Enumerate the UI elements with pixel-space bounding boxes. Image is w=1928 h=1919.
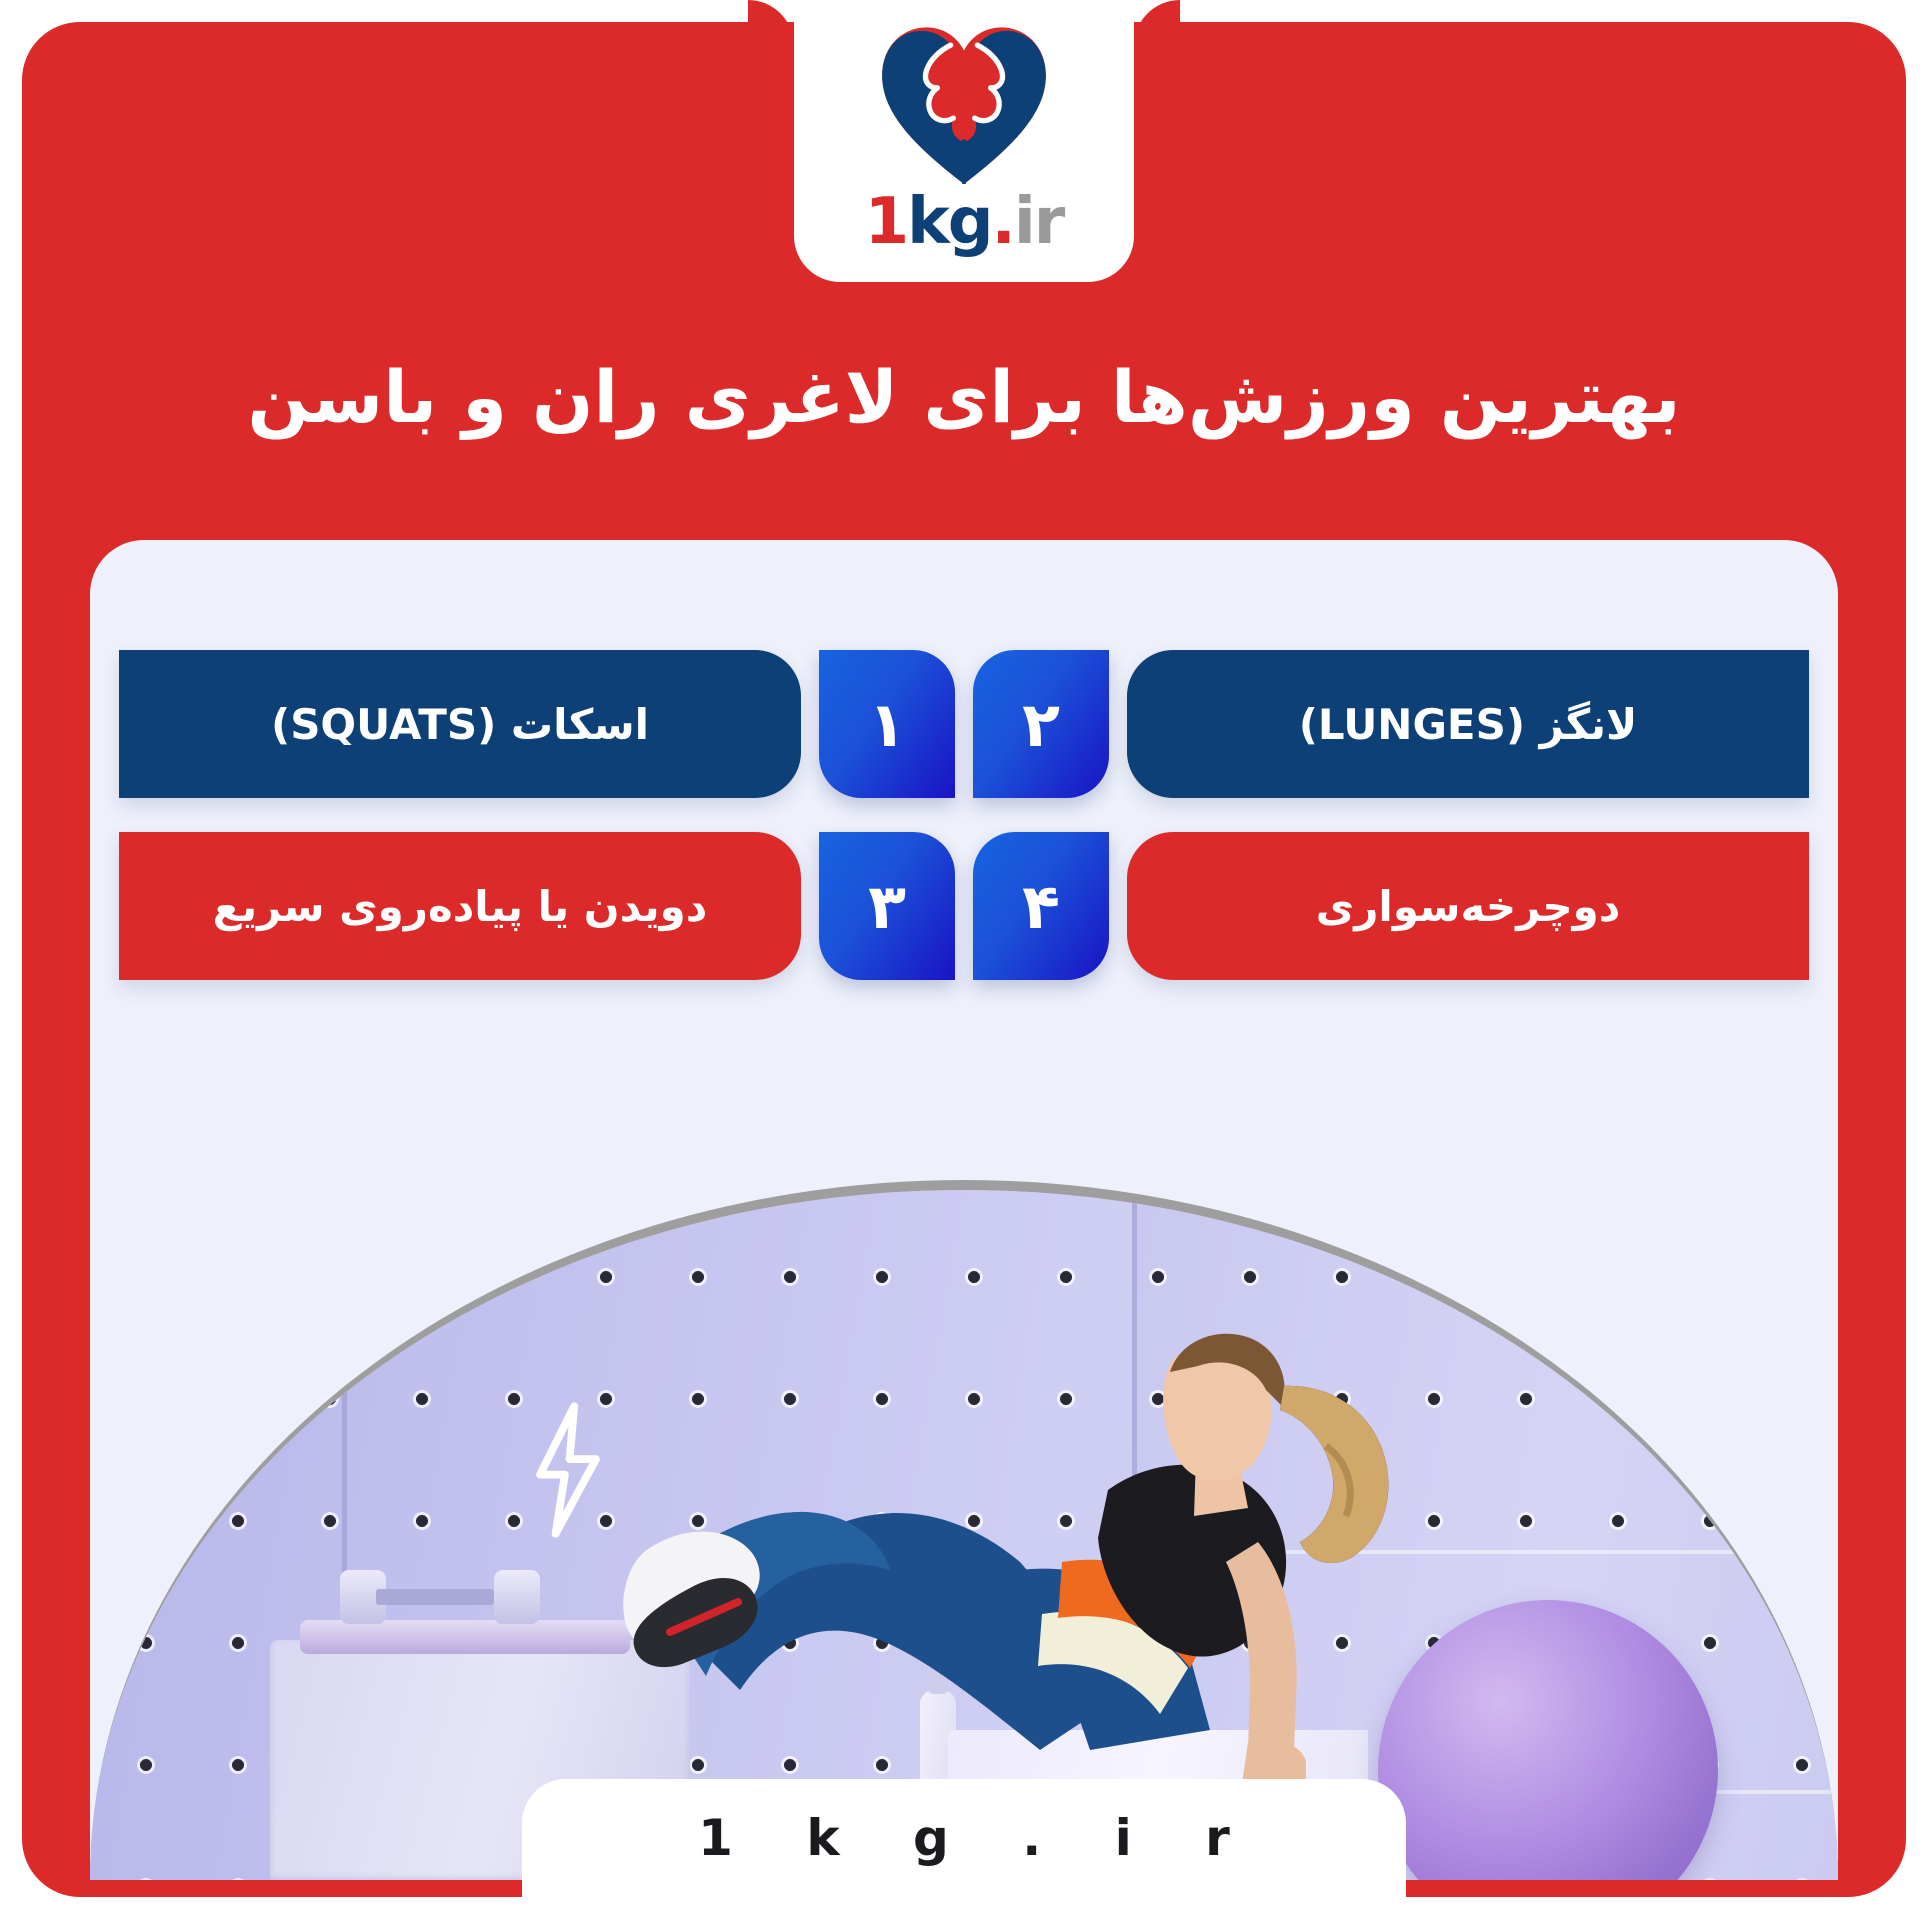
notch-fillet-right — [1134, 0, 1180, 46]
hero-photo — [90, 1180, 1838, 1880]
exercise-row: لانگز (LUNGES) ۲ ۱ اسکات (SQUATS) — [119, 650, 1809, 798]
exercise-label: لانگز (LUNGES) — [1299, 700, 1638, 749]
exercise-item-2[interactable]: لانگز (LUNGES) — [1127, 650, 1809, 798]
exercise-number-4: ۴ — [973, 832, 1109, 980]
exercise-list: لانگز (LUNGES) ۲ ۱ اسکات (SQUATS) دوچرخه… — [90, 650, 1838, 980]
exercise-number-3: ۳ — [819, 832, 955, 980]
badge-number: ۲ — [1022, 688, 1060, 761]
woman-exercising-figure — [90, 1190, 1838, 1880]
wordmark-dot: . — [992, 185, 1014, 259]
exercise-item-4[interactable]: دوچرخه‌سواری — [1127, 832, 1809, 980]
exercise-number-1: ۱ — [819, 650, 955, 798]
badge-number: ۳ — [868, 870, 906, 943]
wordmark-kg: kg — [907, 185, 991, 259]
exercise-label: اسکات (SQUATS) — [271, 700, 649, 749]
exercise-item-3[interactable]: دویدن یا پیاده‌روی سریع — [119, 832, 801, 980]
badge-number: ۴ — [1022, 870, 1060, 943]
infographic-poster: 1kg.ir بهترین ورزش‌ها برای لاغری ران و ب… — [0, 0, 1928, 1919]
footer-url-plate: 1 k g . i r — [522, 1779, 1406, 1897]
exercise-row: دوچرخه‌سواری ۴ ۳ دویدن یا پیاده‌روی سریع — [119, 832, 1809, 980]
exercise-item-1[interactable]: اسکات (SQUATS) — [119, 650, 801, 798]
brand-logo-block: 1kg.ir — [794, 0, 1134, 282]
footer-url-text: 1 k g . i r — [670, 1809, 1258, 1867]
heart-bicep-logo-icon — [875, 18, 1053, 188]
badge-number: ۱ — [868, 688, 906, 761]
brand-wordmark: 1kg.ir — [865, 190, 1064, 254]
content-panel: لانگز (LUNGES) ۲ ۱ اسکات (SQUATS) دوچرخه… — [90, 540, 1838, 1880]
exercise-number-2: ۲ — [973, 650, 1109, 798]
exercise-label: دویدن یا پیاده‌روی سریع — [213, 882, 708, 931]
exercise-label: دوچرخه‌سواری — [1316, 882, 1621, 931]
wordmark-one: 1 — [865, 185, 908, 259]
wordmark-ir: ir — [1014, 185, 1064, 259]
page-title: بهترین ورزش‌ها برای لاغری ران و باسن — [120, 352, 1808, 442]
notch-fillet-left — [748, 0, 794, 46]
